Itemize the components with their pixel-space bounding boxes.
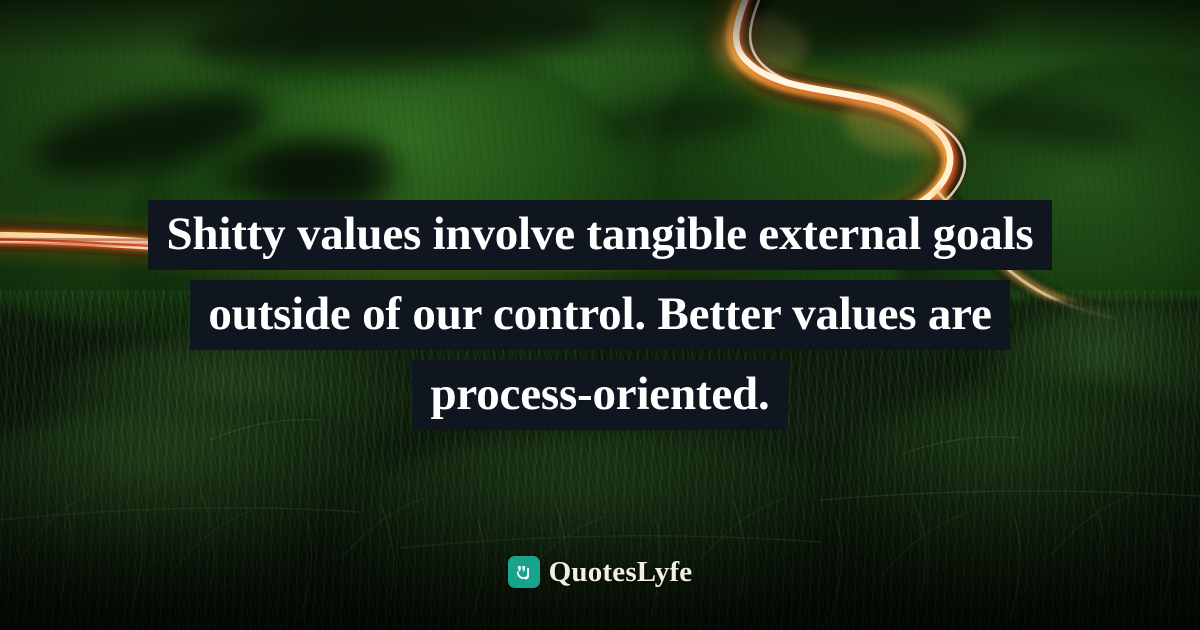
quote-card: Shitty values involve tangible external … <box>0 0 1200 630</box>
brand-watermark[interactable]: QuotesLyfe <box>0 556 1200 588</box>
quote-text-block: Shitty values involve tangible external … <box>0 200 1200 430</box>
quote-line-3: process-oriented. <box>0 360 1200 430</box>
quote-line-1-text: Shitty values involve tangible external … <box>148 200 1051 270</box>
quote-smiley-icon <box>508 556 540 588</box>
quote-line-2-text: outside of our control. Better values ar… <box>190 280 1009 350</box>
quote-line-1: Shitty values involve tangible external … <box>0 200 1200 270</box>
quote-line-3-text: process-oriented. <box>412 360 787 430</box>
quote-line-2: outside of our control. Better values ar… <box>0 280 1200 350</box>
brand-name: QuotesLyfe <box>549 558 693 587</box>
